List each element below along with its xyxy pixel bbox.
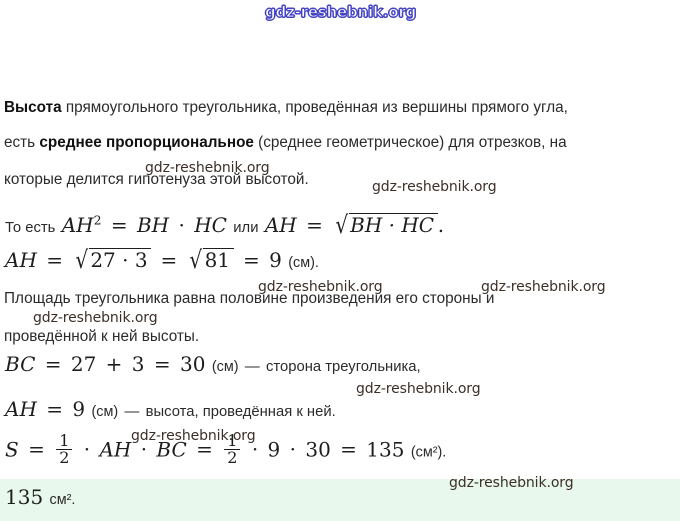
formula-ah-2: AH [265, 213, 297, 237]
header-watermark: gdz-reshebnik.org [265, 3, 416, 21]
formula-dash: — [125, 404, 140, 420]
formula-equals-2: = [303, 213, 326, 237]
answer-band [0, 479, 680, 521]
formula-equals: = [42, 352, 65, 376]
statement-line-3: которые делится гипотенуза этой высотой. [4, 172, 680, 187]
formula-unit: (см) [212, 359, 239, 375]
formula-ah-lhs: AH [5, 397, 37, 421]
formula-period: . [438, 213, 444, 237]
formula-equals: = [43, 248, 66, 272]
statement-line-5: проведённой к ней высоты. [4, 329, 680, 344]
formula-equals: = [108, 213, 131, 237]
formula-unit: (см). [288, 255, 319, 271]
radical-sign-icon: √ [335, 213, 348, 237]
statement-line-2-bold: среднее пропорциональное [39, 134, 254, 151]
fraction-denominator: 2 [56, 449, 72, 466]
statement-line-2-rest: (среднее геометрическое) для отрезков, н… [254, 134, 567, 151]
watermark: gdz-reshebnik.org [372, 179, 497, 195]
formula-equals: = [43, 397, 66, 421]
formula-dot-1: · [81, 437, 93, 461]
formula-ah: AH [62, 213, 94, 237]
formula-dot: · [175, 213, 187, 237]
formula-result: 9 [269, 248, 282, 272]
formula-ah-value: AH = √27 · 3 = √81 = 9 (см). [5, 247, 319, 271]
formula-dot-4: · [287, 437, 299, 461]
watermark: gdz-reshebnik.org [145, 160, 270, 176]
formula-sqrt-27-3: √27 · 3 [72, 247, 151, 271]
formula-bc: BC = 27 + 3 = 30 (см) — сторона треуголь… [5, 354, 421, 375]
statement-line-2: есть среднее пропорциональное (среднее г… [4, 135, 680, 150]
formula-equals-2: = [151, 352, 174, 376]
statement-line-1-bold: Высота [4, 99, 62, 116]
formula-result: 9 [72, 397, 85, 421]
formula-equals-3: = [240, 248, 263, 272]
watermark: gdz-reshebnik.org [33, 310, 158, 326]
watermark: gdz-reshebnik.org [449, 475, 574, 491]
formula-equals-2: = [158, 248, 181, 272]
formula-operand-b: 3 [132, 352, 145, 376]
formula-conjunction: или [233, 220, 258, 236]
watermark: gdz-reshebnik.org [258, 279, 383, 295]
answer-value: 135 [5, 485, 43, 509]
formula-equals: = [25, 437, 48, 461]
formula-exponent: 2 [94, 212, 102, 227]
radical-sign-icon: √ [190, 248, 203, 272]
statement-line-1: Высота прямоугольного треугольника, пров… [4, 100, 680, 115]
formula-operand-a: 27 [71, 352, 96, 376]
formula-hc: HC [194, 213, 227, 237]
formula-operand-9: 9 [268, 437, 281, 461]
statement-line-1-rest: прямоугольного треугольника, проведённая… [62, 99, 568, 116]
formula-caption: сторона треугольника, [266, 359, 421, 375]
radical-sign-icon: √ [75, 248, 88, 272]
formula-dash: — [245, 359, 260, 375]
formula-radicand-1: 27 · 3 [89, 248, 151, 270]
formula-bc-lhs: BC [5, 352, 35, 376]
formula-ah: AH [99, 437, 131, 461]
answer-unit: см². [50, 492, 76, 508]
watermark: gdz-reshebnik.org [356, 381, 481, 397]
formula-radicand: BH · HC [349, 213, 438, 235]
formula-sqrt-81: √81 [187, 247, 234, 271]
watermark: gdz-reshebnik.org [481, 279, 606, 295]
formula-result: 30 [180, 352, 205, 376]
solution-page: gdz-reshebnik.org Высота прямоугольного … [0, 0, 680, 521]
formula-fraction-half-1: 12 [56, 433, 72, 467]
formula-lead: То есть [5, 220, 55, 236]
fraction-denominator: 2 [224, 449, 240, 466]
formula-unit: (см) [91, 404, 118, 420]
formula-bh: BH [137, 213, 169, 237]
answer-text: 135 см². [5, 485, 75, 509]
formula-unit: (см²). [411, 444, 446, 460]
formula-equals-3: = [337, 437, 360, 461]
watermark: gdz-reshebnik.org [131, 428, 256, 444]
formula-operand-30: 30 [305, 437, 330, 461]
formula-sqrt: √BH · HC [332, 212, 438, 236]
formula-caption: высота, проведённая к ней. [146, 404, 336, 420]
formula-s: S [5, 437, 19, 461]
statement-line-2-pre: есть [4, 134, 39, 151]
formula-ah-lhs: AH [5, 248, 37, 272]
formula-plus: + [103, 352, 126, 376]
fraction-numerator: 1 [56, 433, 72, 449]
formula-result: 135 [366, 437, 404, 461]
formula-ah-squared: То есть AH2 = BH · HC или AH = √BH · HC. [5, 212, 444, 236]
formula-ah-height: AH = 9 (см) — высота, проведённая к ней. [5, 399, 336, 420]
formula-radicand-2: 81 [203, 248, 234, 270]
